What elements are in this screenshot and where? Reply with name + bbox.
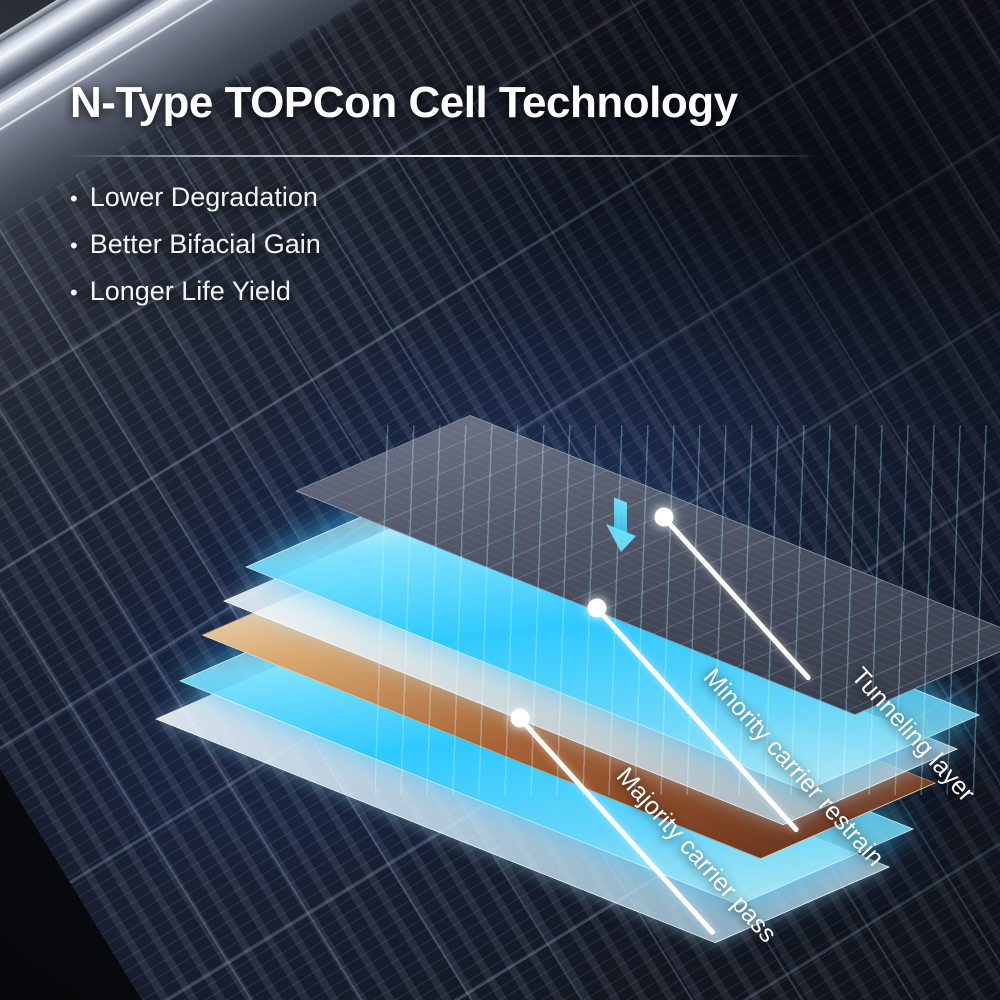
title-divider (68, 155, 820, 157)
list-item-label: Longer Life Yield (90, 276, 291, 307)
list-item: • Longer Life Yield (70, 276, 321, 307)
topcon-infographic: N-Type TOPCon Cell Technology • Lower De… (0, 0, 1000, 1000)
page-title: N-Type TOPCon Cell Technology (70, 78, 738, 128)
solar-panel-scene (0, 0, 1000, 1000)
list-item: • Better Bifacial Gain (70, 229, 321, 260)
exploded-cell-stack (170, 405, 890, 805)
list-item-label: Better Bifacial Gain (90, 229, 321, 260)
bullet-icon: • (70, 282, 78, 304)
bullet-icon: • (70, 235, 78, 257)
list-item-label: Lower Degradation (90, 182, 318, 213)
bullet-icon: • (70, 188, 78, 210)
list-item: • Lower Degradation (70, 182, 321, 213)
feature-list: • Lower Degradation • Better Bifacial Ga… (70, 182, 321, 323)
